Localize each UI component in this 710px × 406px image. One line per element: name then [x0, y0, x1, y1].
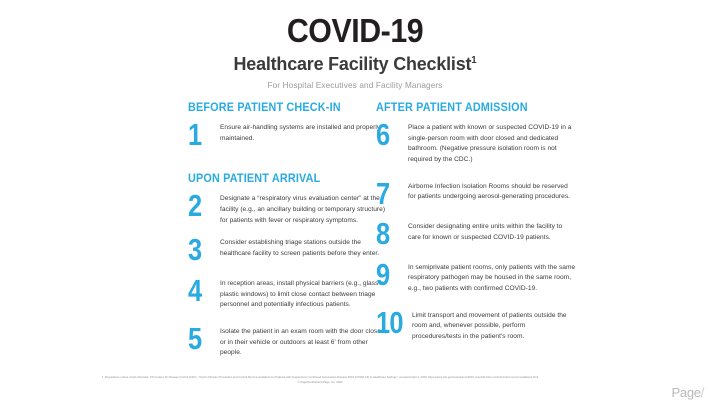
footnotes: 1. All guidance unless noted otherwise: … — [0, 376, 640, 385]
checklist-item-text: Consider designating entire units within… — [408, 220, 576, 243]
checklist-item-text: In reception areas, install physical bar… — [220, 277, 388, 311]
footnote-line-2: © Page/Southerland Page, Inc. 2020 — [0, 381, 640, 386]
section-spacer — [188, 153, 388, 171]
checklist-item-text: Airborne Infection Isolation Rooms shoul… — [408, 180, 576, 203]
checklist-item-6: 6 Place a patient with known or suspecte… — [376, 121, 576, 166]
logo-text: Page — [672, 385, 701, 400]
section-heading-after-patient-admission: AFTER PATIENT ADMISSION — [376, 100, 552, 114]
page-subtitle-text: Healthcare Facility Checklist — [234, 53, 472, 74]
checklist-item-number: 5 — [188, 325, 214, 351]
checklist-column-left: BEFORE PATIENT CHECK-IN 1 Ensure air-han… — [188, 100, 388, 369]
section-heading-before-patient-check-in: BEFORE PATIENT CHECK-IN — [188, 100, 364, 114]
checklist-item-number: 7 — [376, 180, 402, 206]
section-heading-upon-patient-arrival: UPON PATIENT ARRIVAL — [188, 171, 364, 185]
header: COVID-19 Healthcare Facility Checklist1 … — [0, 0, 710, 90]
checklist-item-text: Consider establishing triage stations ou… — [220, 236, 388, 259]
checklist-item-number: 4 — [188, 277, 214, 303]
checklist-item-number: 1 — [188, 121, 214, 147]
subtitle-footnote-marker: 1 — [471, 55, 476, 66]
logo-slash: / — [701, 385, 704, 400]
checklist-item-number: 3 — [188, 236, 214, 262]
checklist-item-1: 1 Ensure air-handling systems are instal… — [188, 121, 388, 147]
infographic-page: COVID-19 Healthcare Facility Checklist1 … — [0, 0, 710, 406]
checklist-item-number: 8 — [376, 220, 402, 246]
checklist-item-5: 5 Isolate the patient in an exam room wi… — [188, 325, 388, 359]
checklist-item-number: 9 — [376, 261, 402, 287]
checklist-item-text: Place a patient with known or suspected … — [408, 121, 576, 166]
checklist-item-text: In semiprivate patient rooms, only patie… — [408, 261, 576, 295]
checklist-item-text: Limit transport and movement of patients… — [412, 309, 576, 343]
checklist-columns: BEFORE PATIENT CHECK-IN 1 Ensure air-han… — [0, 100, 710, 369]
page-title: COVID-19 — [28, 14, 681, 48]
page-logo: Page/ — [672, 385, 704, 400]
footer: 1. All guidance unless noted otherwise: … — [0, 374, 710, 406]
checklist-item-2: 2 Designate a “respiratory virus evaluat… — [188, 192, 388, 226]
checklist-item-3: 3 Consider establishing triage stations … — [188, 236, 388, 262]
page-subtitle: Healthcare Facility Checklist1 — [11, 53, 700, 75]
checklist-item-10: 10 Limit transport and movement of patie… — [376, 309, 576, 343]
checklist-item-text: Ensure air-handling systems are installe… — [220, 121, 388, 144]
checklist-item-text: Designate a “respiratory virus evaluatio… — [220, 192, 388, 226]
checklist-item-text: Isolate the patient in an exam room with… — [220, 325, 388, 359]
checklist-item-number: 6 — [376, 121, 402, 147]
checklist-item-number: 2 — [188, 192, 214, 218]
checklist-item-4: 4 In reception areas, install physical b… — [188, 277, 388, 311]
checklist-column-right: AFTER PATIENT ADMISSION 6 Place a patien… — [376, 100, 576, 369]
page-tagline: For Hospital Executives and Facility Man… — [0, 81, 710, 90]
checklist-item-8: 8 Consider designating entire units with… — [376, 220, 576, 246]
checklist-item-7: 7 Airborne Infection Isolation Rooms sho… — [376, 180, 576, 206]
checklist-item-9: 9 In semiprivate patient rooms, only pat… — [376, 261, 576, 295]
checklist-item-number: 10 — [376, 309, 406, 335]
